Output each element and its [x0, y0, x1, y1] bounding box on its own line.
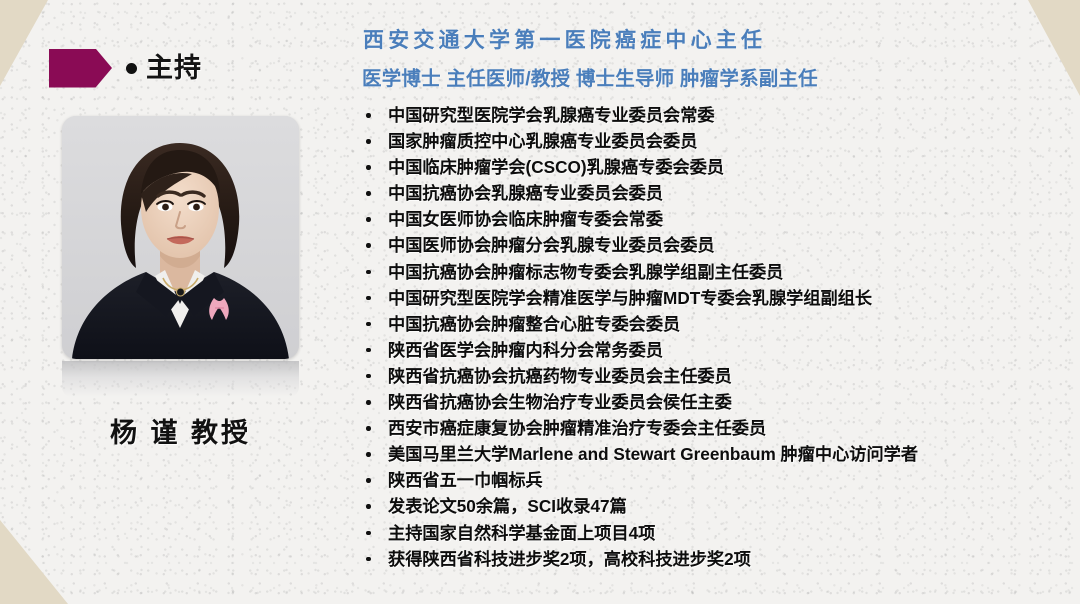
portrait-illustration — [62, 116, 299, 359]
credential-item: 发表论文50余篇，SCI收录47篇 — [358, 493, 1058, 519]
credential-item: 陕西省医学会肿瘤内科分会常务委员 — [358, 337, 1058, 363]
credential-item: 陕西省抗癌协会抗癌药物专业委员会主任委员 — [358, 363, 1058, 389]
credentials-heading: 医学博士 主任医师/教授 博士生导师 肿瘤学系副主任 — [358, 62, 1058, 91]
corner-wedge-bottom-left — [0, 520, 68, 604]
corner-wedge-top-left — [0, 0, 48, 86]
credential-item: 国家肿瘤质控中心乳腺癌专业委员会委员 — [358, 128, 1058, 154]
bullet-dot-icon — [126, 63, 137, 74]
profile-details: 西安交通大学第一医院癌症中心主任 医学博士 主任医师/教授 博士生导师 肿瘤学系… — [358, 24, 1058, 572]
profile-name: 杨 谨 教授 — [62, 411, 299, 450]
chevron-arrow-icon — [49, 49, 112, 88]
slide-canvas: 主持 — [0, 0, 1080, 604]
credential-item: 获得陕西省科技进步奖2项，高校科技进步奖2项 — [358, 546, 1058, 572]
credential-item: 中国临床肿瘤学会(CSCO)乳腺癌专委会委员 — [358, 154, 1058, 180]
credential-item: 中国女医师协会临床肿瘤专委会常委 — [358, 206, 1058, 232]
credential-item: 陕西省五一巾帼标兵 — [358, 467, 1058, 493]
photo-reflection — [62, 361, 299, 397]
page-title: 主持 — [146, 55, 202, 82]
credential-item: 主持国家自然科学基金面上项目4项 — [358, 520, 1058, 546]
credential-item: 中国研究型医院学会乳腺癌专业委员会常委 — [358, 102, 1058, 128]
credential-item: 中国抗癌协会乳腺癌专业委员会委员 — [358, 180, 1058, 206]
affiliation-heading: 西安交通大学第一医院癌症中心主任 — [358, 24, 1058, 54]
profile-photo — [62, 116, 299, 359]
slide-header: 主持 — [49, 48, 202, 88]
profile-photo-block: 杨 谨 教授 — [62, 116, 299, 450]
credential-item: 中国抗癌协会肿瘤标志物专委会乳腺学组副主任委员 — [358, 259, 1058, 285]
credential-item: 西安市癌症康复协会肿瘤精准治疗专委会主任委员 — [358, 415, 1058, 441]
credential-item: 美国马里兰大学Marlene and Stewart Greenbaum 肿瘤中… — [358, 441, 1058, 467]
credential-item: 中国医师协会肿瘤分会乳腺专业委员会委员 — [358, 232, 1058, 258]
credentials-list: 中国研究型医院学会乳腺癌专业委员会常委国家肿瘤质控中心乳腺癌专业委员会委员中国临… — [358, 102, 1058, 572]
credential-item: 陕西省抗癌协会生物治疗专业委员会侯任主委 — [358, 389, 1058, 415]
credential-item: 中国研究型医院学会精准医学与肿瘤MDT专委会乳腺学组副组长 — [358, 285, 1058, 311]
credential-item: 中国抗癌协会肿瘤整合心脏专委会委员 — [358, 311, 1058, 337]
